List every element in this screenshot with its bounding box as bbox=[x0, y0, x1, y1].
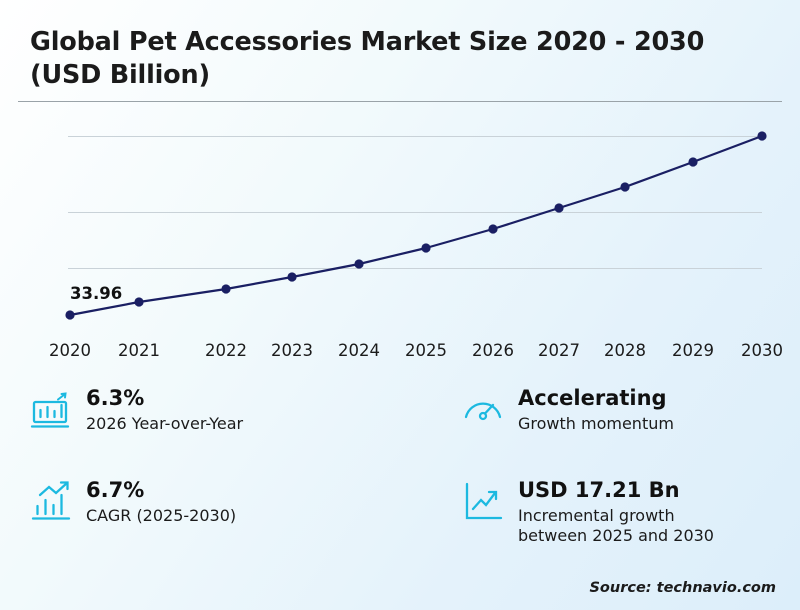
stat-text: Accelerating Growth momentum bbox=[518, 386, 674, 434]
bar-chart-icon bbox=[28, 386, 74, 432]
stat-value: 6.3% bbox=[86, 387, 243, 411]
stat-value: USD 17.21 Bn bbox=[518, 479, 714, 503]
stat-card-incremental: USD 17.21 Bn Incremental growth between … bbox=[460, 478, 714, 546]
x-tick-10: 2030 bbox=[727, 341, 797, 360]
page-title: Global Pet Accessories Market Size 2020 … bbox=[30, 26, 730, 91]
stat-caption: Incremental growth between 2025 and 2030 bbox=[518, 506, 714, 547]
infographic-page: Global Pet Accessories Market Size 2020 … bbox=[0, 0, 800, 610]
stat-caption: Growth momentum bbox=[518, 414, 674, 434]
series-markers bbox=[65, 131, 766, 319]
x-tick-3: 2023 bbox=[257, 341, 327, 360]
x-tick-9: 2029 bbox=[658, 341, 728, 360]
stat-caption: 2026 Year-over-Year bbox=[86, 414, 243, 434]
stat-card-momentum: Accelerating Growth momentum bbox=[460, 386, 674, 434]
speedometer-icon bbox=[460, 386, 506, 432]
stat-text: 6.3% 2026 Year-over-Year bbox=[86, 386, 243, 434]
x-axis: 2020 2021 2022 2023 2024 2025 2026 2027 … bbox=[18, 341, 782, 369]
stat-text: 6.7% CAGR (2025-2030) bbox=[86, 478, 236, 526]
x-tick-8: 2028 bbox=[590, 341, 660, 360]
growth-arrow-icon bbox=[28, 478, 74, 524]
x-tick-6: 2026 bbox=[458, 341, 528, 360]
line-chart: 33.96 bbox=[18, 112, 782, 340]
title-divider bbox=[18, 101, 782, 102]
stat-text: USD 17.21 Bn Incremental growth between … bbox=[518, 478, 714, 546]
x-tick-0: 2020 bbox=[35, 341, 105, 360]
series-line bbox=[70, 136, 762, 315]
stat-card-cagr: 6.7% CAGR (2025-2030) bbox=[28, 478, 236, 526]
x-tick-2: 2022 bbox=[191, 341, 261, 360]
stat-value: Accelerating bbox=[518, 387, 674, 411]
x-tick-5: 2025 bbox=[391, 341, 461, 360]
x-tick-7: 2027 bbox=[524, 341, 594, 360]
stat-value: 6.7% bbox=[86, 479, 236, 503]
stat-card-yoy: 6.3% 2026 Year-over-Year bbox=[28, 386, 243, 434]
chart-series-svg bbox=[18, 112, 782, 340]
x-tick-1: 2021 bbox=[104, 341, 174, 360]
x-tick-4: 2024 bbox=[324, 341, 394, 360]
trend-up-box-icon bbox=[460, 478, 506, 524]
data-label-2020: 33.96 bbox=[70, 284, 122, 303]
source-note: Source: technavio.com bbox=[589, 580, 776, 596]
stats-grid: 6.3% 2026 Year-over-Year 6.7% CAGR (2025… bbox=[28, 386, 772, 558]
stat-caption: CAGR (2025-2030) bbox=[86, 506, 236, 526]
